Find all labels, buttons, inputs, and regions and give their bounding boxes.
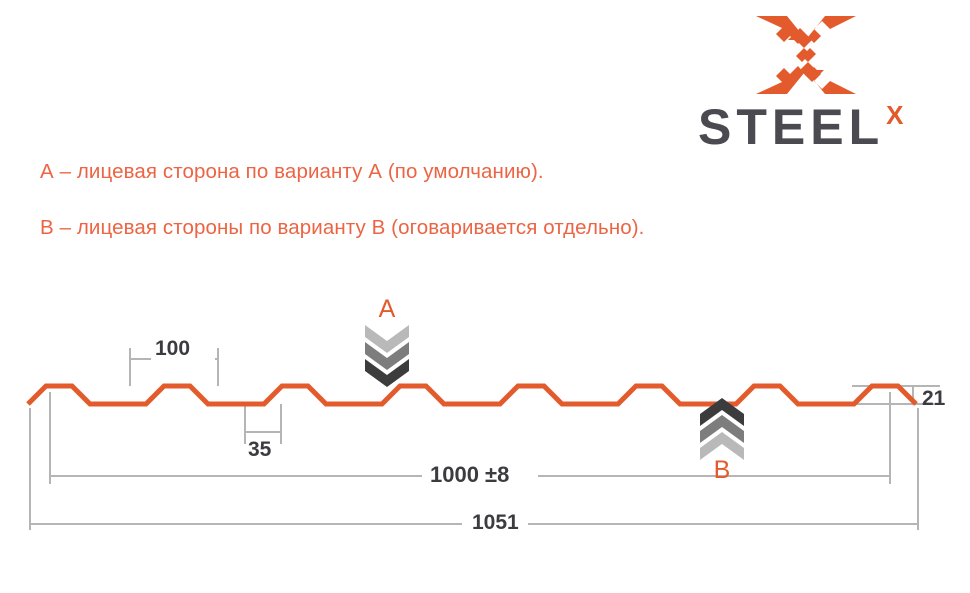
dimension-label-valley-flat: 35 bbox=[248, 438, 271, 462]
chevron-down-icon bbox=[363, 325, 411, 387]
dimension-label-overall-width: 1051 bbox=[472, 511, 519, 535]
dimension-label-height: 21 bbox=[922, 387, 945, 411]
chevron-up-icon bbox=[698, 398, 746, 460]
marker-label-b: B bbox=[702, 458, 742, 483]
dimension-lines bbox=[30, 348, 940, 530]
marker-label-a: A bbox=[367, 297, 407, 322]
dimension-label-working-width: 1000 ±8 bbox=[430, 462, 509, 488]
profile-cross-section-line bbox=[28, 386, 916, 404]
drawing-canvas: STEEL X А – лицевая сторона по варианту … bbox=[0, 0, 970, 593]
dimension-label-pitch: 100 bbox=[155, 337, 190, 361]
profile-technical-drawing bbox=[0, 0, 970, 593]
